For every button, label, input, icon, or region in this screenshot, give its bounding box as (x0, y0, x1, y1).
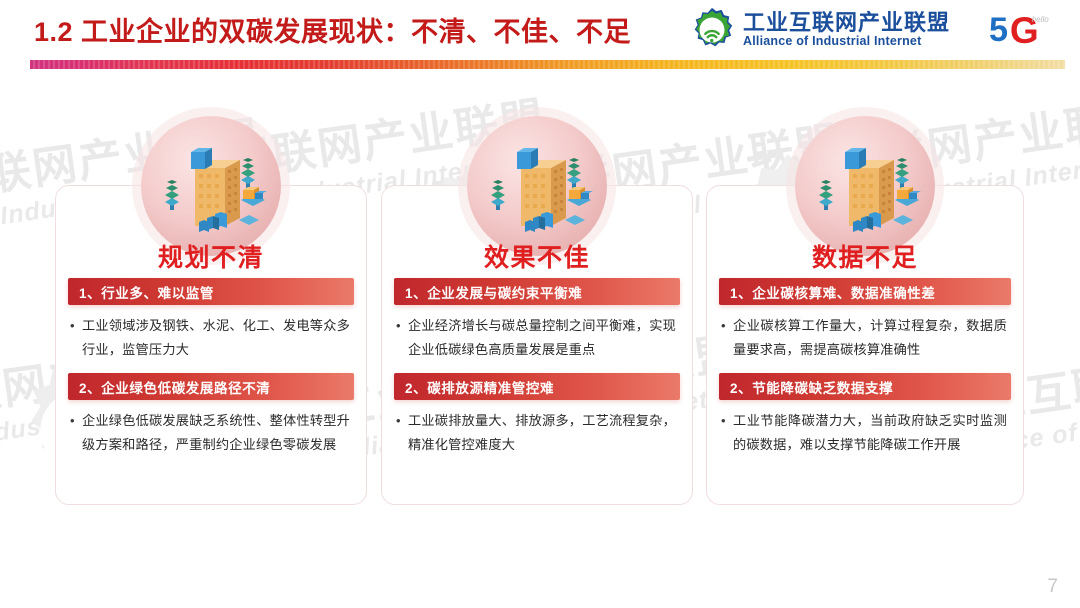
bullet-item: • 工业碳排放量大、排放源多，工艺流程复杂，精准化管控难度大 (396, 409, 676, 457)
gear-wifi-icon (688, 6, 736, 54)
section-header-bar: 1、行业多、难以监管 (68, 278, 354, 305)
section-header-bar: 2、企业绿色低碳发展路径不清 (68, 373, 354, 400)
section-header-bar: 1、企业碳核算难、数据准确性差 (719, 278, 1011, 305)
factory-buildings-icon (467, 116, 607, 256)
bullet-item: • 企业碳核算工作量大，计算过程复杂，数据质量要求高，需提高碳核算准确性 (721, 314, 1007, 362)
bullet-text: 工业领域涉及钢铁、水泥、化工、发电等众多行业，监管压力大 (82, 314, 350, 362)
card-data: 数据不足 1、企业碳核算难、数据准确性差 • 企业碳核算工作量大，计算过程复杂，… (706, 185, 1024, 505)
bullet-text: 工业碳排放量大、排放源多，工艺流程复杂，精准化管控难度大 (408, 409, 676, 457)
bullet-dot: • (396, 314, 408, 362)
bullet-text: 企业碳核算工作量大，计算过程复杂，数据质量要求高，需提高碳核算准确性 (733, 314, 1007, 362)
page-title: 1.2 工业企业的双碳发展现状：不清、不佳、不足 (34, 10, 631, 49)
card-planning: 规划不清 1、行业多、难以监管 • 工业领域涉及钢铁、水泥、化工、发电等众多行业… (55, 185, 367, 505)
section-label: 1、企业发展与碳约束平衡难 (394, 282, 582, 302)
bullet-item: • 企业绿色低碳发展缺乏系统性、整体性转型升级方案和路径，严重制约企业绿色零碳发… (70, 409, 350, 457)
section-label: 2、碳排放源精准管控难 (394, 377, 554, 397)
bullet-text: 工业节能降碳潜力大，当前政府缺乏实时监测的碳数据，难以支撑节能降碳工作开展 (733, 409, 1007, 457)
card-body: 1、企业碳核算难、数据准确性差 • 企业碳核算工作量大，计算过程复杂，数据质量要… (707, 278, 1023, 457)
slide-root: 工业互联网产业联盟 Alliance of Industrial Interne… (0, 0, 1080, 608)
bullet-dot: • (70, 409, 82, 457)
slide-header: 1.2 工业企业的双碳发展现状：不清、不佳、不足 工业互联网产业联盟 Allia… (0, 0, 1080, 72)
card-title: 效果不佳 (382, 238, 692, 274)
bullet-text: 企业绿色低碳发展缺乏系统性、整体性转型升级方案和路径，严重制约企业绿色零碳发展 (82, 409, 350, 457)
bullet-item: • 工业节能降碳潜力大，当前政府缺乏实时监测的碳数据，难以支撑节能降碳工作开展 (721, 409, 1007, 457)
card-body: 1、企业发展与碳约束平衡难 • 企业经济增长与碳总量控制之间平衡难，实现企业低碳… (382, 278, 692, 457)
factory-buildings-icon (141, 116, 281, 256)
bullet-dot: • (721, 314, 733, 362)
section-header-bar: 1、企业发展与碳约束平衡难 (394, 278, 680, 305)
section-label: 2、节能降碳缺乏数据支撑 (719, 377, 893, 397)
card-effect: 效果不佳 1、企业发展与碳约束平衡难 • 企业经济增长与碳总量控制之间平衡难，实… (381, 185, 693, 505)
section-header-bar: 2、节能降碳缺乏数据支撑 (719, 373, 1011, 400)
card-title: 数据不足 (707, 238, 1023, 274)
org-logo-name-cn: 工业互联网产业联盟 (743, 11, 950, 34)
section-header-bar: 2、碳排放源精准管控难 (394, 373, 680, 400)
5g-hello-icon: 5 G hello (988, 8, 1064, 52)
cards-container: 规划不清 1、行业多、难以监管 • 工业领域涉及钢铁、水泥、化工、发电等众多行业… (0, 0, 1080, 608)
bullet-dot: • (721, 409, 733, 457)
factory-buildings-icon (795, 116, 935, 256)
bullet-text: 企业经济增长与碳总量控制之间平衡难，实现企业低碳绿色高质量发展是重点 (408, 314, 676, 362)
section-label: 2、企业绿色低碳发展路径不清 (68, 377, 270, 397)
bullet-dot: • (396, 409, 408, 457)
bullet-dot: • (70, 314, 82, 362)
card-title: 规划不清 (56, 238, 366, 274)
section-label: 1、行业多、难以监管 (68, 282, 214, 302)
org-logo: 工业互联网产业联盟 Alliance of Industrial Interne… (688, 6, 950, 54)
page-number: 7 (1047, 576, 1058, 598)
org-logo-text: 工业互联网产业联盟 Alliance of Industrial Interne… (743, 11, 950, 48)
section-label: 1、企业碳核算难、数据准确性差 (719, 282, 936, 302)
5g-digit: 5 (989, 11, 1008, 49)
bullet-item: • 企业经济增长与碳总量控制之间平衡难，实现企业低碳绿色高质量发展是重点 (396, 314, 676, 362)
5g-tagline: hello (1032, 15, 1050, 24)
bullet-item: • 工业领域涉及钢铁、水泥、化工、发电等众多行业，监管压力大 (70, 314, 350, 362)
card-body: 1、行业多、难以监管 • 工业领域涉及钢铁、水泥、化工、发电等众多行业，监管压力… (56, 278, 366, 457)
org-logo-name-en: Alliance of Industrial Internet (743, 34, 950, 48)
